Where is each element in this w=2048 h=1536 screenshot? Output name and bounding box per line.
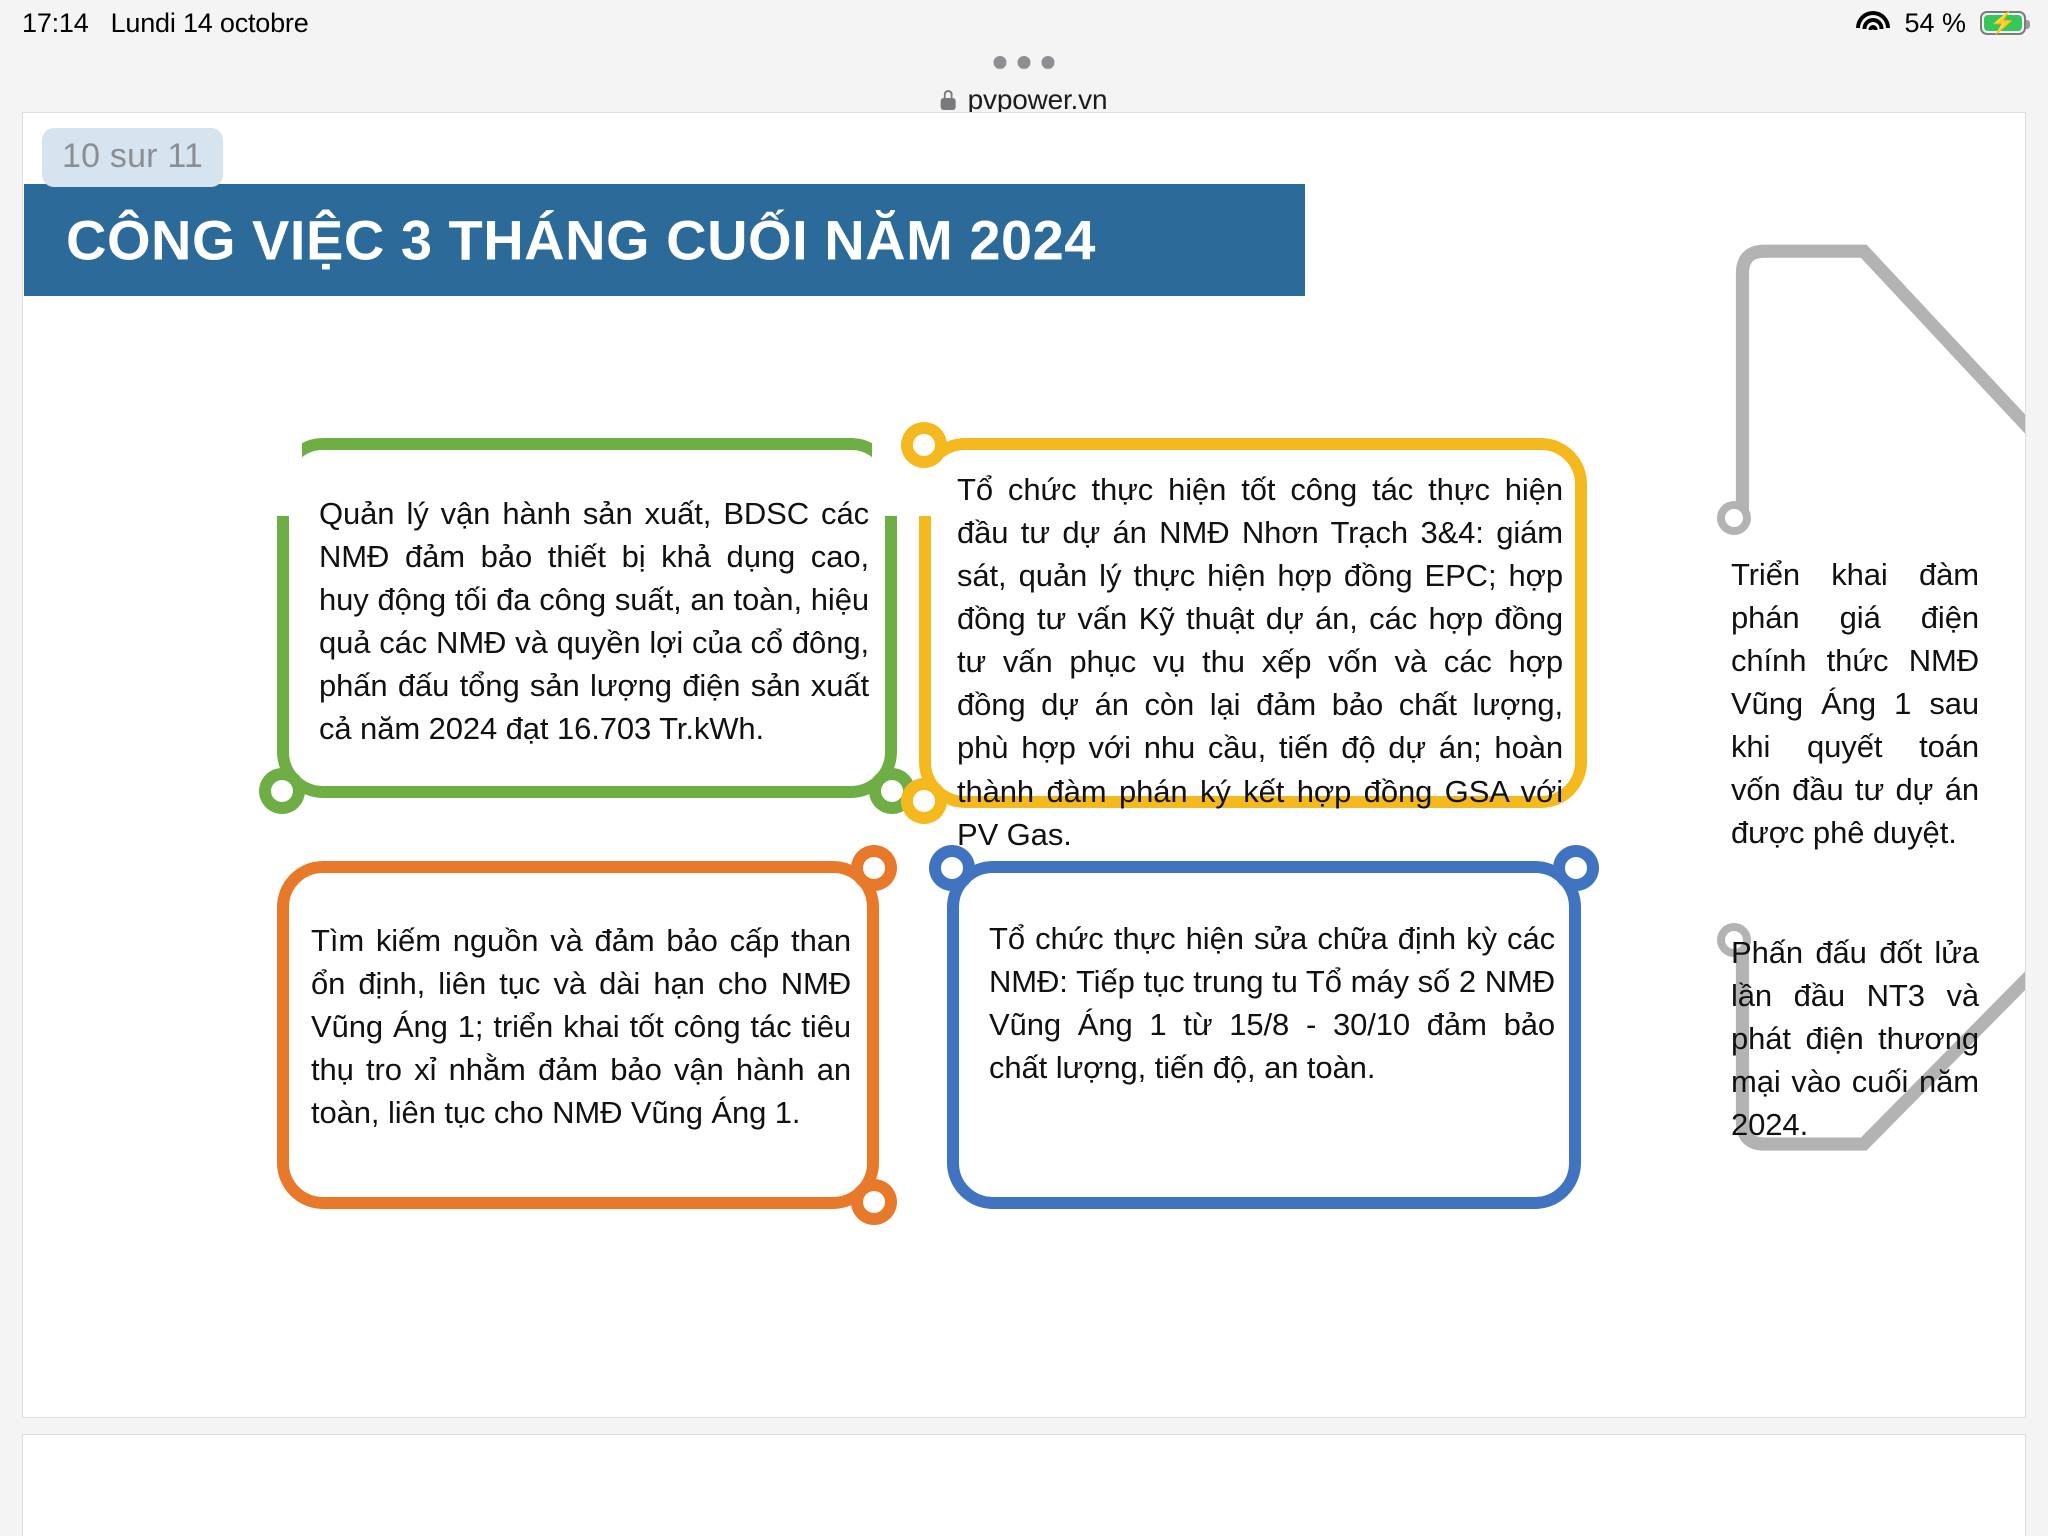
document-page[interactable]: CÔNG VIỆC 3 THÁNG CUỐI NĂM 2024 Quản lý … [22,112,2026,1418]
orange-knob-bottom-inner [863,1191,885,1213]
blue-knob-top-inner [941,857,963,879]
callout-box-yellow: Tổ chức thực hiện tốt công tác thực hiện… [919,438,1587,808]
yellow-knob-top-inner [913,434,935,456]
battery-charging-icon: ⚡ [1980,11,2026,35]
callout-orange-text: Tìm kiếm nguồn và đảm bảo cấp than ổn đị… [311,919,851,1134]
callout-box-orange: Tìm kiếm nguồn và đảm bảo cấp than ổn đị… [277,861,879,1209]
three-dots-icon[interactable] [994,56,1055,69]
battery-percent-label: 54 % [1904,8,1966,39]
callout-box-green: Quản lý vận hành sản xuất, BDSC các NMĐ … [277,438,897,798]
yellow-knob-bottom-inner [913,790,935,812]
callout-blue-text: Tổ chức thực hiện sửa chữa định kỳ các N… [989,917,1555,1089]
page-counter-badge: 10 sur 11 [42,128,223,187]
callout-yellow-text: Tổ chức thực hiện tốt công tác thực hiện… [957,468,1563,856]
lock-icon [941,90,956,110]
side-note-bottom: Phấn đấu đốt lửa lần đầu NT3 và phát điệ… [1731,931,1979,1146]
gray-knob-top-inner [1725,509,1743,527]
next-page-sheet[interactable] [22,1434,2026,1536]
status-time: 17:14 [22,8,89,39]
green-knob-right-inner [881,780,903,802]
orange-knob-top-inner [863,857,885,879]
status-bar: 17:14 Lundi 14 octobre 54 % ⚡ [0,0,2048,46]
callout-green-text: Quản lý vận hành sản xuất, BDSC các NMĐ … [319,492,869,750]
status-bar-left: 17:14 Lundi 14 octobre [22,0,309,46]
status-date: Lundi 14 octobre [111,8,309,39]
page-title: CÔNG VIỆC 3 THÁNG CUỐI NĂM 2024 [66,208,1096,273]
status-bar-right: 54 % ⚡ [1856,0,2026,46]
slide-title-banner: CÔNG VIỆC 3 THÁNG CUỐI NĂM 2024 [24,184,1305,296]
side-note-top: Triển khai đàm phán giá điện chính thức … [1731,553,1979,855]
screen: 17:14 Lundi 14 octobre 54 % ⚡ pvpower.vn… [0,0,2048,1536]
wifi-icon [1856,10,1890,36]
green-gap-left2 [268,438,302,466]
green-knob-left-inner [271,780,293,802]
browser-chrome: pvpower.vn [0,46,2048,104]
callout-box-blue: Tổ chức thực hiện sửa chữa định kỳ các N… [947,861,1581,1209]
